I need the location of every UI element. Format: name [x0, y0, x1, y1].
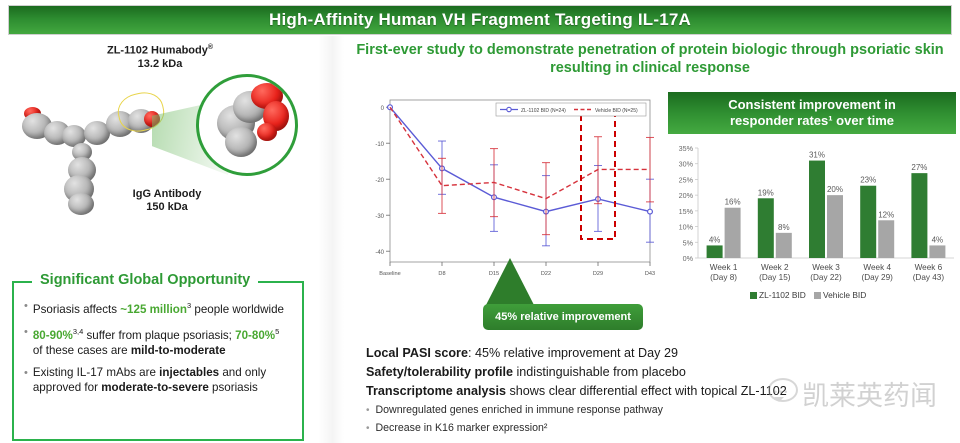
x-tick-label: (Day 22) [810, 273, 842, 282]
bar [878, 220, 894, 258]
x-tick-label: (Day 8) [710, 273, 737, 282]
x-tick-label: Week 2 [761, 263, 789, 272]
text-segment: 80-90% [33, 329, 73, 342]
text-segment: Existing IL-17 mAbs are [33, 366, 159, 379]
bar [776, 233, 792, 258]
text-segment: people worldwide [191, 303, 284, 316]
y-tick-label: 25% [679, 175, 694, 184]
x-tick-label: Week 3 [812, 263, 840, 272]
bar-value-label: 19% [758, 188, 774, 197]
text-segment: suffer from plaque psoriasis; [83, 329, 235, 342]
summary-line: Transcriptome analysis shows clear diffe… [366, 382, 956, 400]
responder-rate-header-line1: Consistent improvement in [728, 97, 896, 113]
y-tick-label: 15% [679, 207, 694, 216]
summary-line-label: Safety/tolerability profile [366, 365, 513, 379]
summary-sub-bullet-text: Decrease in K16 marker expression² [376, 421, 548, 436]
bar [929, 245, 945, 258]
y-tick-label: 10% [679, 223, 694, 232]
legend-label: ZL-1102 BID [759, 290, 806, 300]
bullet-dot-icon: • [24, 299, 28, 317]
legend-swatch [750, 292, 757, 299]
bar [725, 208, 741, 258]
y-tick-label: -40 [375, 250, 384, 256]
igg-name: IgG Antibody [133, 188, 202, 200]
text-segment: psoriasis [209, 381, 258, 394]
bar [707, 245, 723, 258]
y-tick-label: 5% [683, 238, 694, 247]
bullet-dot-icon: • [24, 366, 28, 395]
bar-value-label: 4% [932, 235, 944, 244]
summary-line: Safety/tolerability profile indistinguis… [366, 363, 956, 381]
bullet-dot-icon: • [366, 403, 370, 418]
text-segment: 3,4 [73, 327, 83, 336]
humabody-zoom-circle [196, 74, 298, 176]
text-segment: injectables [159, 366, 219, 379]
opportunity-bullet: •80-90%3,4 suffer from plaque psoriasis;… [24, 325, 290, 358]
x-tick-label: D8 [438, 271, 445, 277]
text-segment: 70-80% [235, 329, 275, 342]
igg-caption: IgG Antibody 150 kDa [92, 188, 242, 214]
bullet-dot-icon: • [366, 421, 370, 436]
bar [860, 186, 876, 258]
molecule-blob [225, 127, 257, 157]
legend-label: ZL-1102 BID (N=24) [521, 108, 566, 114]
molecule-blob [68, 193, 94, 215]
x-tick-label: Week 1 [710, 263, 738, 272]
global-opportunity-list: •Psoriasis affects ~125 million3 people … [14, 283, 302, 409]
study-summary: Local PASI score: 45% relative improveme… [366, 344, 956, 436]
legend-marker [507, 107, 511, 111]
relative-improvement-callout: 45% relative improvement [483, 304, 643, 330]
opportunity-bullet: •Psoriasis affects ~125 million3 people … [24, 299, 290, 317]
legend-label: Vehicle BID (N=25) [595, 108, 638, 114]
summary-line-text: indistinguishable from placebo [513, 365, 686, 379]
opportunity-bullet: •Existing IL-17 mAbs are injectables and… [24, 366, 290, 395]
bar [911, 173, 927, 258]
summary-sub-bullet-text: Downregulated genes enriched in immune r… [376, 403, 663, 418]
responder-rate-bar-chart: 0%5%10%15%20%25%30%35%4%16%Week 1(Day 8)… [666, 136, 958, 304]
y-tick-label: -10 [375, 142, 384, 148]
bar [809, 161, 825, 258]
responder-rate-bar-chart-svg: 0%5%10%15%20%25%30%35%4%16%Week 1(Day 8)… [666, 136, 958, 304]
summary-line-text: shows clear differential effect with top… [506, 384, 787, 398]
bar [827, 195, 843, 258]
summary-sub-bullet: •Decrease in K16 marker expression² [366, 421, 956, 436]
x-tick-label: Baseline [379, 271, 400, 277]
x-tick-label: D29 [593, 271, 603, 277]
text-segment: moderate-to-severe [101, 381, 209, 394]
bar-value-label: 12% [878, 210, 894, 219]
summary-line: Local PASI score: 45% relative improveme… [366, 344, 956, 362]
left-column: ZL-1102 Humabody® 13.2 kDa [0, 36, 340, 443]
opportunity-bullet-text: Existing IL-17 mAbs are injectables and … [33, 366, 290, 395]
plot-area [390, 100, 650, 262]
y-tick-label: -20 [375, 178, 384, 184]
study-summary-lines: Local PASI score: 45% relative improveme… [366, 344, 956, 400]
bar-value-label: 23% [860, 176, 876, 185]
global-opportunity-box: Significant Global Opportunity •Psoriasi… [12, 281, 304, 441]
summary-line-text: : 45% relative improvement at Day 29 [468, 346, 678, 360]
study-summary-sub-bullets: •Downregulated genes enriched in immune … [366, 403, 956, 436]
bar-value-label: 31% [809, 151, 825, 160]
y-tick-label: 0 [381, 106, 385, 112]
x-tick-label: D22 [541, 271, 551, 277]
humabody-mass: 13.2 kDa [138, 58, 183, 70]
bar-value-label: 20% [827, 185, 843, 194]
text-segment: 5 [275, 327, 279, 336]
responder-rate-panel-header: Consistent improvement in responder rate… [668, 92, 956, 134]
slide-title-bar: High-Affinity Human VH Fragment Targetin… [8, 5, 952, 35]
text-segment: Psoriasis affects [33, 303, 120, 316]
bar [758, 198, 774, 258]
legend-label: Vehicle BID [823, 290, 866, 300]
legend: ZL-1102 BID (N=24)Vehicle BID (N=25) [496, 103, 646, 116]
global-opportunity-title: Significant Global Opportunity [32, 272, 258, 288]
summary-line-label: Transcriptome analysis [366, 384, 506, 398]
y-tick-label: 30% [679, 160, 694, 169]
summary-line-label: Local PASI score [366, 346, 468, 360]
bar-value-label: 27% [911, 163, 927, 172]
text-segment: mild-to-moderate [131, 344, 226, 357]
data-point [648, 209, 653, 214]
x-tick-label: D15 [489, 271, 499, 277]
x-tick-label: Week 6 [915, 263, 943, 272]
page-title: High-Affinity Human VH Fragment Targetin… [269, 10, 691, 30]
responder-rate-header-line2: responder rates¹ over time [730, 113, 894, 129]
x-tick-label: (Day 43) [913, 273, 945, 282]
humabody-caption: ZL-1102 Humabody® 13.2 kDa [70, 41, 250, 71]
pasi-line-chart: 0-10-20-30-40BaselineD8D15D22D29D43ZL-11… [358, 90, 658, 305]
opportunity-bullet-text: Psoriasis affects ~125 million3 people w… [33, 299, 284, 317]
opportunity-bullet-text: 80-90%3,4 suffer from plaque psoriasis; … [33, 325, 290, 358]
bar-value-label: 4% [709, 235, 721, 244]
x-tick-label: D43 [645, 271, 655, 277]
legend-swatch [814, 292, 821, 299]
y-tick-label: 0% [683, 254, 694, 263]
pasi-line-chart-svg: 0-10-20-30-40BaselineD8D15D22D29D43ZL-11… [358, 90, 658, 305]
study-headline-line1: First-ever study to demonstrate penetrat… [356, 42, 846, 58]
y-tick-label: 20% [679, 191, 694, 200]
relative-improvement-callout-label: 45% relative improvement [495, 311, 631, 323]
bar-value-label: 16% [725, 198, 741, 207]
x-tick-label: (Day 15) [759, 273, 791, 282]
bullet-dot-icon: • [24, 325, 28, 358]
study-headline: First-ever study to demonstrate penetrat… [352, 41, 948, 77]
slide-root: High-Affinity Human VH Fragment Targetin… [0, 0, 960, 443]
text-segment: ~125 million [120, 303, 187, 316]
bar-value-label: 8% [778, 223, 790, 232]
text-segment: of these cases are [33, 344, 131, 357]
y-tick-label: 35% [679, 144, 694, 153]
epitope-blob-icon [257, 123, 277, 141]
y-tick-label: -30 [375, 214, 384, 220]
registered-icon: ® [208, 44, 213, 51]
summary-sub-bullet: •Downregulated genes enriched in immune … [366, 403, 956, 418]
humabody-name: ZL-1102 Humabody [107, 45, 208, 57]
igg-mass: 150 kDa [146, 201, 188, 213]
x-tick-label: (Day 29) [861, 273, 893, 282]
callout-arrow-icon [486, 258, 534, 305]
x-tick-label: Week 4 [863, 263, 891, 272]
